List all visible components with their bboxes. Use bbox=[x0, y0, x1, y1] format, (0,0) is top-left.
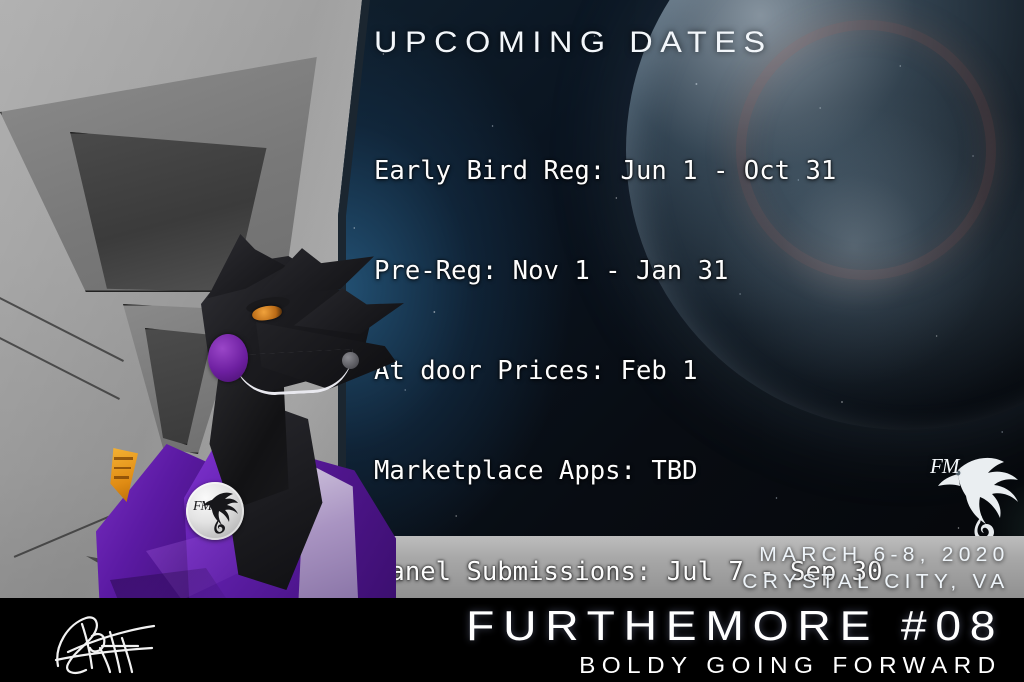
rank-stripe bbox=[114, 476, 129, 479]
upcoming-dates-panel: UPCOMING DATES Early Bird Reg: Jun 1 - O… bbox=[358, 12, 1024, 592]
date-row: At door Prices: Feb 1 bbox=[374, 355, 1024, 388]
date-row: Marketplace Apps: TBD bbox=[374, 455, 1024, 488]
rank-stripe bbox=[114, 467, 131, 470]
event-location: CRYSTAL CITY, VA bbox=[743, 569, 1010, 596]
banner-tagline: BOLDY GOING FORWARD bbox=[580, 652, 1002, 679]
banner-title: FURTHEMORE #08 bbox=[466, 602, 1004, 650]
artist-signature bbox=[34, 602, 204, 680]
event-meta: MARCH 6-8, 2020 CRYSTAL CITY, VA bbox=[743, 542, 1010, 596]
date-row: Pre-Reg: Nov 1 - Jan 31 bbox=[374, 255, 1024, 288]
uniform-fm-badge: FM bbox=[186, 482, 244, 540]
rank-stripe bbox=[114, 457, 133, 460]
bottom-banner: FURTHEMORE #08 BOLDY GOING FORWARD bbox=[0, 598, 1024, 682]
date-row: Early Bird Reg: Jun 1 - Oct 31 bbox=[374, 155, 1024, 188]
convention-poster: FM UPCOMING DATES Early Bird Reg: Jun 1 … bbox=[0, 0, 1024, 682]
headset-microphone-icon bbox=[342, 352, 359, 369]
mascot-character: FM bbox=[86, 248, 386, 600]
panel-title: UPCOMING DATES bbox=[374, 26, 773, 60]
badge-monogram: FM bbox=[193, 499, 211, 515]
headset-earpiece bbox=[208, 334, 248, 382]
artist-signature-icon bbox=[34, 602, 204, 680]
event-dates: MARCH 6-8, 2020 bbox=[743, 542, 1010, 569]
